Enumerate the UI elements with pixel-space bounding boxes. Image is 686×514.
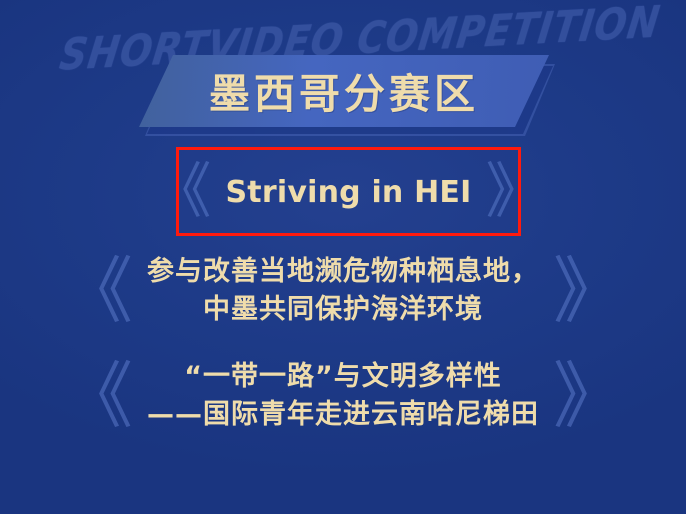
- paragraph-2-line-2: ——国际青年走进云南哈尼梯田: [147, 396, 539, 434]
- paragraph-2-text: “一带一路”与文明多样性 ——国际青年走进云南哈尼梯田: [147, 358, 539, 435]
- chevron-left-icon: 《: [61, 255, 133, 327]
- paragraph-1-line-1: 参与改善当地濒危物种栖息地，: [147, 253, 539, 291]
- presentation-slide: SHORTVIDEO COMPETITION 墨西哥分赛区 《 Striving…: [0, 0, 686, 514]
- title-banner-label: 墨西哥分赛区: [139, 55, 549, 127]
- chevron-right-icon: 》: [553, 360, 625, 432]
- chevron-right-icon: 》: [553, 255, 625, 327]
- paragraph-1-line-2: 中墨共同保护海洋环境: [147, 291, 539, 329]
- paragraph-2-line-1: “一带一路”与文明多样性: [147, 358, 539, 396]
- chevron-left-icon: 《: [61, 360, 133, 432]
- paragraph-1-text: 参与改善当地濒危物种栖息地， 中墨共同保护海洋环境: [147, 253, 539, 330]
- paragraph-row-1: 《 参与改善当地濒危物种栖息地， 中墨共同保护海洋环境 》: [0, 250, 686, 332]
- red-highlight-rectangle: [176, 147, 521, 236]
- title-banner: 墨西哥分赛区: [139, 55, 549, 127]
- paragraph-row-2: 《 “一带一路”与文明多样性 ——国际青年走进云南哈尼梯田 》: [0, 355, 686, 437]
